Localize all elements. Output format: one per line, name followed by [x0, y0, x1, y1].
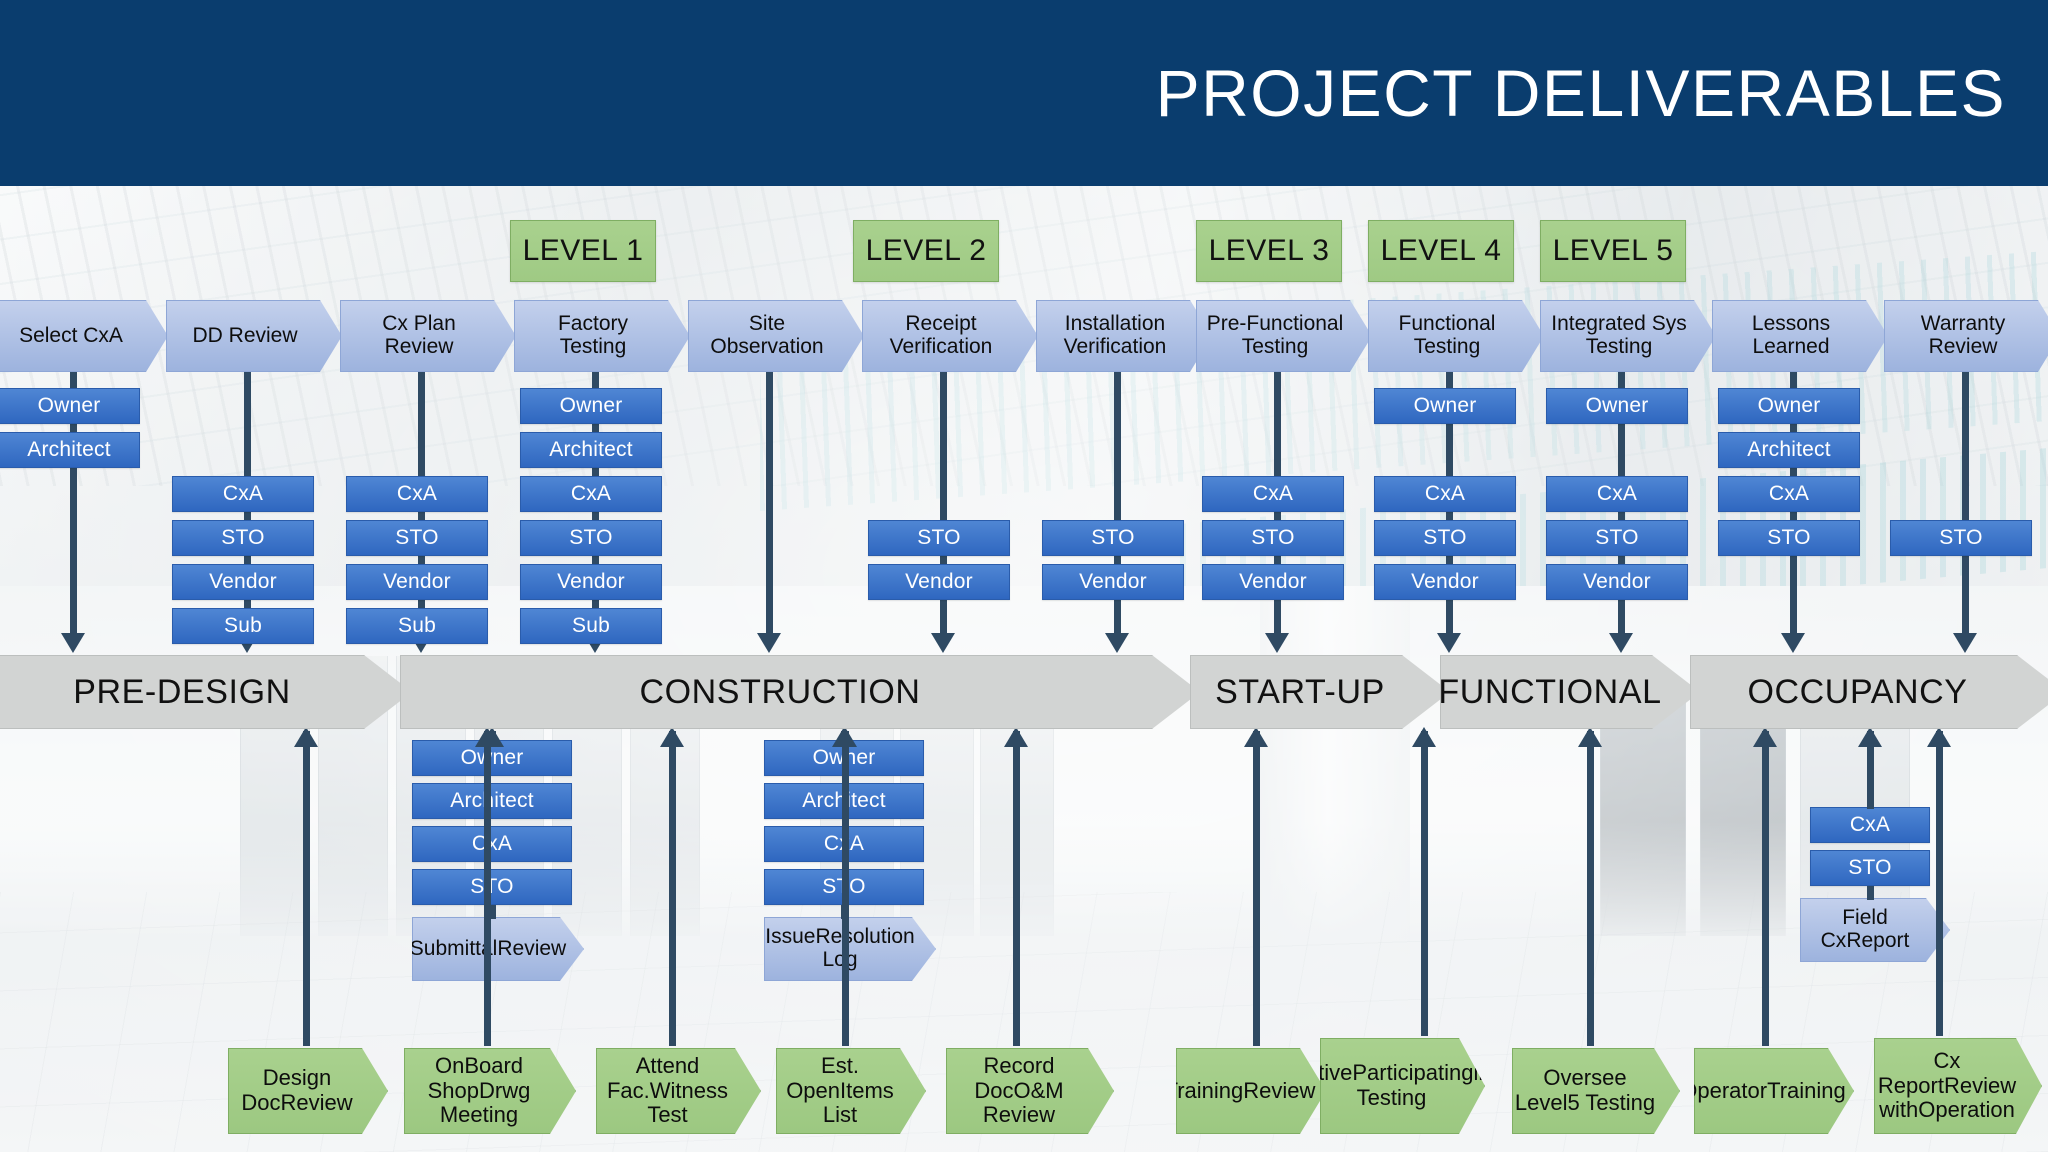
level-badge-1: LEVEL 1: [510, 220, 656, 282]
arrow-up-bottom-7: [1578, 727, 1602, 747]
step-chevron-installation-verification[interactable]: InstallationVerification: [1036, 300, 1212, 372]
deliverable-chevron-issue-resolution-log[interactable]: IssueResolution Log: [764, 917, 936, 981]
role-label: Owner: [38, 394, 101, 418]
deliverable-chevron-field-cx-report[interactable]: Field CxReport: [1800, 898, 1950, 962]
connector-bottom-3: [842, 731, 849, 1046]
role-label: Owner: [1758, 394, 1821, 418]
level-badge-label: LEVEL 2: [866, 234, 987, 268]
arrow-up-lower-field-cx-report: [1858, 727, 1882, 747]
arrow-up-bottom-1: [475, 727, 499, 747]
text-line: Testing: [554, 336, 632, 359]
arrow-down-step-warranty-review: [1953, 633, 1977, 653]
step-chevron-site-observation[interactable]: SiteObservation: [688, 300, 864, 372]
role-box-vendor-cx-plan-review: Vendor: [346, 564, 488, 600]
arrow-up-bottom-3: [833, 727, 857, 747]
text-line: Lessons: [1748, 313, 1834, 336]
bottom-deliverable-label: Record DocO&M Review: [947, 1054, 1091, 1128]
bottom-deliverable-label: Est. OpenItems List: [777, 1054, 903, 1128]
role-label: STO: [917, 526, 960, 550]
bottom-deliverable-label: Cx ReportReview withOperation: [1875, 1049, 2019, 1123]
bottom-deliverable-cx-report-review-with-operation[interactable]: Cx ReportReview withOperation: [1874, 1038, 2042, 1134]
phase-banner-start-up: START-UP: [1190, 655, 1450, 729]
role-box-sto-installation-verification: STO: [1042, 520, 1184, 556]
connector-bottom-1: [484, 731, 491, 1046]
role-box-cxa-factory-testing: CxA: [520, 476, 662, 512]
role-label: CxA: [223, 482, 263, 506]
step-label: Cx PlanReview: [378, 313, 460, 358]
role-label: STO: [1939, 526, 1982, 550]
page-title: PROJECT DELIVERABLES: [1156, 55, 2006, 131]
level-badge-label: LEVEL 1: [523, 234, 644, 268]
phase-banner-functional: FUNCTIONAL: [1440, 655, 1700, 729]
lower-role-box-architect-submittal-review: Architect: [412, 783, 572, 819]
role-box-sto-lessons-learned: STO: [1718, 520, 1860, 556]
phase-label: START-UP: [1215, 673, 1385, 712]
phase-label: CONSTRUCTION: [639, 673, 920, 712]
bottom-deliverable-label: TrainingReview: [1165, 1079, 1316, 1104]
role-box-sto-dd-review: STO: [172, 520, 314, 556]
role-label: STO: [1848, 856, 1891, 880]
role-label: CxA: [1769, 482, 1809, 506]
bottom-deliverable-label: OperatorTraining: [1680, 1079, 1846, 1104]
text-line: Review: [497, 937, 566, 960]
text-line: Review: [1917, 336, 2009, 359]
level-badge-label: LEVEL 5: [1553, 234, 1674, 268]
text-line: Testing: [1203, 336, 1348, 359]
text-line: Operation: [1918, 1097, 2015, 1122]
text-line: Learned: [1748, 336, 1834, 359]
role-label: Vendor: [209, 570, 277, 594]
role-box-cxa-integrated-sys-testing: CxA: [1546, 476, 1688, 512]
step-chevron-functional-testing[interactable]: FunctionalTesting: [1368, 300, 1544, 372]
arrow-up-bottom-8: [1753, 727, 1777, 747]
role-box-owner-select-cxa: Owner: [0, 388, 140, 424]
lower-role-box-sto-submittal-review: STO: [412, 869, 572, 905]
text-line: Testing: [1547, 336, 1690, 359]
role-label: CxA: [571, 482, 611, 506]
bottom-deliverable-onboard-shop-drwg-meeting[interactable]: OnBoard ShopDrwg Meeting: [404, 1048, 576, 1134]
phase-banner-construction: CONSTRUCTION: [400, 655, 1200, 729]
step-label: SiteObservation: [706, 313, 827, 358]
role-box-sto-cx-plan-review: STO: [346, 520, 488, 556]
role-label: STO: [395, 526, 438, 550]
level-badge-4: LEVEL 4: [1368, 220, 1514, 282]
role-box-architect-select-cxa: Architect: [0, 432, 140, 468]
step-chevron-warranty-review[interactable]: WarrantyReview: [1884, 300, 2048, 372]
step-chevron-integrated-sys-testing[interactable]: Integrated SysTesting: [1540, 300, 1716, 372]
text-line: Receipt: [886, 313, 997, 336]
role-label: Vendor: [1583, 570, 1651, 594]
lower-role-box-cxa-submittal-review: CxA: [412, 826, 572, 862]
step-label: ReceiptVerification: [886, 313, 997, 358]
role-label: STO: [1595, 526, 1638, 550]
role-label: Architect: [27, 438, 111, 462]
role-box-owner-lessons-learned: Owner: [1718, 388, 1860, 424]
level-badge-label: LEVEL 3: [1209, 234, 1330, 268]
role-box-vendor-integrated-sys-testing: Vendor: [1546, 564, 1688, 600]
text-line: 5 Testing: [1567, 1090, 1655, 1115]
step-chevron-select-cxa[interactable]: Select CxA: [0, 300, 168, 372]
text-line: Cx Plan: [378, 313, 460, 336]
role-box-cxa-cx-plan-review: CxA: [346, 476, 488, 512]
arrow-down-step-integrated-sys-testing: [1609, 633, 1633, 653]
text-line: Pre-Functional: [1203, 313, 1348, 336]
connector-bottom-9: [1936, 731, 1943, 1036]
role-label: STO: [569, 526, 612, 550]
role-label: CxA: [397, 482, 437, 506]
text-line: Observation: [706, 336, 827, 359]
role-label: Sub: [572, 614, 610, 638]
step-label: FunctionalTesting: [1395, 313, 1500, 358]
text-line: Factory: [554, 313, 632, 336]
step-chevron-pre-functional-testing[interactable]: Pre-FunctionalTesting: [1196, 300, 1372, 372]
level-badge-2: LEVEL 2: [853, 220, 999, 282]
phase-label: PRE-DESIGN: [73, 673, 291, 712]
bottom-deliverable-label: ActiveParticipatingin Testing: [1292, 1061, 1490, 1110]
role-box-sto-factory-testing: STO: [520, 520, 662, 556]
role-label: Vendor: [1239, 570, 1307, 594]
role-label: Sub: [224, 614, 262, 638]
bottom-deliverable-attend-fac-witness-test[interactable]: Attend Fac.Witness Test: [596, 1048, 761, 1134]
arrow-up-bottom-5: [1244, 727, 1268, 747]
bottom-deliverable-training-review[interactable]: TrainingReview: [1176, 1048, 1326, 1134]
lower-role-box-cxa-field-cx-report: CxA: [1810, 807, 1930, 843]
text-line: Resolution Log: [815, 925, 914, 971]
role-label: Architect: [549, 438, 633, 462]
bottom-deliverable-design-doc-review[interactable]: Design DocReview: [228, 1048, 388, 1134]
role-label: Vendor: [383, 570, 451, 594]
step-label: InstallationVerification: [1060, 313, 1171, 358]
arrow-up-bottom-9: [1927, 727, 1951, 747]
arrow-down-step-functional-testing: [1437, 633, 1461, 653]
role-label: Vendor: [557, 570, 625, 594]
bottom-deliverable-record-doc-o-m-review[interactable]: Record DocO&M Review: [946, 1048, 1114, 1134]
arrow-down-step-lessons-learned: [1781, 633, 1805, 653]
step-label: LessonsLearned: [1748, 313, 1834, 358]
phase-label: FUNCTIONAL: [1438, 673, 1661, 712]
role-box-vendor-functional-testing: Vendor: [1374, 564, 1516, 600]
connector-lower-link-field-cx-report: [1867, 886, 1874, 900]
connector-step-warranty-review: [1962, 372, 1969, 639]
header-bar: PROJECT DELIVERABLES: [0, 0, 2048, 186]
role-box-cxa-dd-review: CxA: [172, 476, 314, 512]
step-label: WarrantyReview: [1917, 313, 2009, 358]
role-label: Vendor: [1411, 570, 1479, 594]
connector-bottom-8: [1762, 731, 1769, 1046]
arrow-up-bottom-6: [1412, 727, 1436, 747]
text-line: Operator: [1680, 1078, 1767, 1103]
role-box-cxa-pre-functional-testing: CxA: [1202, 476, 1344, 512]
arrow-down-step-installation-verification: [1105, 633, 1129, 653]
text-line: Report: [1846, 929, 1909, 952]
role-label: CxA: [1597, 482, 1637, 506]
text-line: Review: [378, 336, 460, 359]
phase-banner-occupancy: OCCUPANCY: [1690, 655, 2048, 729]
text-line: Training: [1165, 1078, 1244, 1103]
text-line: Site: [706, 313, 827, 336]
text-line: Training: [1767, 1078, 1846, 1103]
step-chevron-dd-review[interactable]: DD Review: [166, 300, 342, 372]
slide-canvas: PROJECT DELIVERABLES LEVEL 1LEVEL 2LEVEL…: [0, 0, 2048, 1152]
role-box-sto-pre-functional-testing: STO: [1202, 520, 1344, 556]
text-line: Review: [1243, 1078, 1315, 1103]
level-badge-5: LEVEL 5: [1540, 220, 1686, 282]
step-label: Integrated SysTesting: [1547, 313, 1690, 358]
role-box-sto-receipt-verification: STO: [868, 520, 1010, 556]
role-label: Architect: [1747, 438, 1831, 462]
role-box-sto-warranty-review: STO: [1890, 520, 2032, 556]
arrow-up-bottom-4: [1004, 727, 1028, 747]
lower-role-box-sto-field-cx-report: STO: [1810, 850, 1930, 886]
arrow-down-step-select-cxa: [61, 633, 85, 653]
role-box-vendor-factory-testing: Vendor: [520, 564, 662, 600]
role-box-sub-cx-plan-review: Sub: [346, 608, 488, 644]
phase-banner-pre-design: PRE-DESIGN: [0, 655, 412, 729]
text-line: DD Review: [188, 325, 301, 348]
role-box-sto-functional-testing: STO: [1374, 520, 1516, 556]
bottom-deliverable-active-participating-in-testing[interactable]: ActiveParticipatingin Testing: [1320, 1038, 1485, 1134]
role-label: Owner: [1414, 394, 1477, 418]
role-label: CxA: [472, 832, 512, 856]
role-label: CxA: [1850, 813, 1890, 837]
role-label: STO: [221, 526, 264, 550]
role-label: CxA: [1253, 482, 1293, 506]
role-label: Owner: [560, 394, 623, 418]
bottom-deliverable-label: Oversee Level5 Testing: [1513, 1066, 1657, 1115]
bottom-deliverable-oversee-level-5-testing[interactable]: Oversee Level5 Testing: [1512, 1048, 1680, 1134]
role-box-sto-integrated-sys-testing: STO: [1546, 520, 1688, 556]
text-line: Witness Test: [647, 1078, 728, 1128]
role-label: Owner: [461, 746, 524, 770]
role-label: Vendor: [905, 570, 973, 594]
text-line: Installation: [1060, 313, 1171, 336]
role-box-architect-lessons-learned: Architect: [1718, 432, 1860, 468]
role-label: STO: [1767, 526, 1810, 550]
phase-label: OCCUPANCY: [1747, 673, 1967, 712]
connector-step-site-observation: [766, 372, 773, 639]
connector-bottom-5: [1253, 731, 1260, 1046]
step-chevron-factory-testing[interactable]: FactoryTesting: [514, 300, 690, 372]
connector-bottom-2: [669, 731, 676, 1046]
role-label: Architect: [450, 789, 534, 813]
role-box-sub-factory-testing: Sub: [520, 608, 662, 644]
role-label: STO: [1423, 526, 1466, 550]
step-label: Pre-FunctionalTesting: [1203, 313, 1348, 358]
bottom-deliverable-est-open-items-list[interactable]: Est. OpenItems List: [776, 1048, 926, 1134]
text-line: Issue: [765, 925, 815, 948]
bottom-deliverable-label: Attend Fac.Witness Test: [597, 1054, 738, 1128]
role-box-sub-dd-review: Sub: [172, 608, 314, 644]
arrow-up-bottom-2: [660, 727, 684, 747]
role-box-vendor-receipt-verification: Vendor: [868, 564, 1010, 600]
text-line: Verification: [1060, 336, 1171, 359]
role-box-architect-factory-testing: Architect: [520, 432, 662, 468]
role-box-owner-integrated-sys-testing: Owner: [1546, 388, 1688, 424]
deliverable-chevron-submittal-review[interactable]: SubmittalReview: [412, 917, 584, 981]
role-label: STO: [1091, 526, 1134, 550]
role-box-owner-functional-testing: Owner: [1374, 388, 1516, 424]
role-box-cxa-lessons-learned: CxA: [1718, 476, 1860, 512]
role-label: Vendor: [1079, 570, 1147, 594]
role-box-cxa-functional-testing: CxA: [1374, 476, 1516, 512]
role-label: CxA: [1425, 482, 1465, 506]
role-box-vendor-installation-verification: Vendor: [1042, 564, 1184, 600]
text-line: Functional: [1395, 313, 1500, 336]
text-line: Verification: [886, 336, 997, 359]
level-badge-3: LEVEL 3: [1196, 220, 1342, 282]
connector-bottom-6: [1421, 731, 1428, 1036]
step-label: FactoryTesting: [554, 313, 632, 358]
deliverable-label: Field CxReport: [1801, 907, 1929, 952]
arrow-down-step-pre-functional-testing: [1265, 633, 1289, 653]
text-line: Review: [280, 1090, 352, 1115]
role-label: STO: [470, 875, 513, 899]
step-chevron-receipt-verification[interactable]: ReceiptVerification: [862, 300, 1038, 372]
level-badge-label: LEVEL 4: [1381, 234, 1502, 268]
text-line: Warranty: [1917, 313, 2009, 336]
deliverable-label: IssueResolution Log: [765, 926, 915, 971]
connector-bottom-7: [1587, 731, 1594, 1046]
text-line: Participating: [1352, 1060, 1473, 1085]
step-chevron-lessons-learned[interactable]: LessonsLearned: [1712, 300, 1888, 372]
role-label: STO: [1251, 526, 1294, 550]
role-box-vendor-pre-functional-testing: Vendor: [1202, 564, 1344, 600]
step-label: DD Review: [188, 325, 301, 348]
connector-bottom-0: [303, 731, 310, 1046]
text-line: Integrated Sys: [1547, 313, 1690, 336]
text-line: Testing: [1395, 336, 1500, 359]
arrow-up-bottom-0: [294, 727, 318, 747]
bottom-deliverable-operator-training[interactable]: OperatorTraining: [1694, 1048, 1854, 1134]
role-label: Owner: [1586, 394, 1649, 418]
bottom-deliverable-label: Design DocReview: [229, 1066, 365, 1115]
bottom-deliverable-label: OnBoard ShopDrwg Meeting: [405, 1054, 553, 1128]
role-box-vendor-dd-review: Vendor: [172, 564, 314, 600]
arrow-down-step-site-observation: [757, 633, 781, 653]
connector-bottom-4: [1013, 731, 1020, 1046]
step-label: Select CxA: [15, 325, 127, 348]
step-chevron-cx-plan-review[interactable]: Cx PlanReview: [340, 300, 516, 372]
role-label: Sub: [398, 614, 436, 638]
role-box-owner-factory-testing: Owner: [520, 388, 662, 424]
arrow-down-step-receipt-verification: [931, 633, 955, 653]
text-line: Select CxA: [15, 325, 127, 348]
